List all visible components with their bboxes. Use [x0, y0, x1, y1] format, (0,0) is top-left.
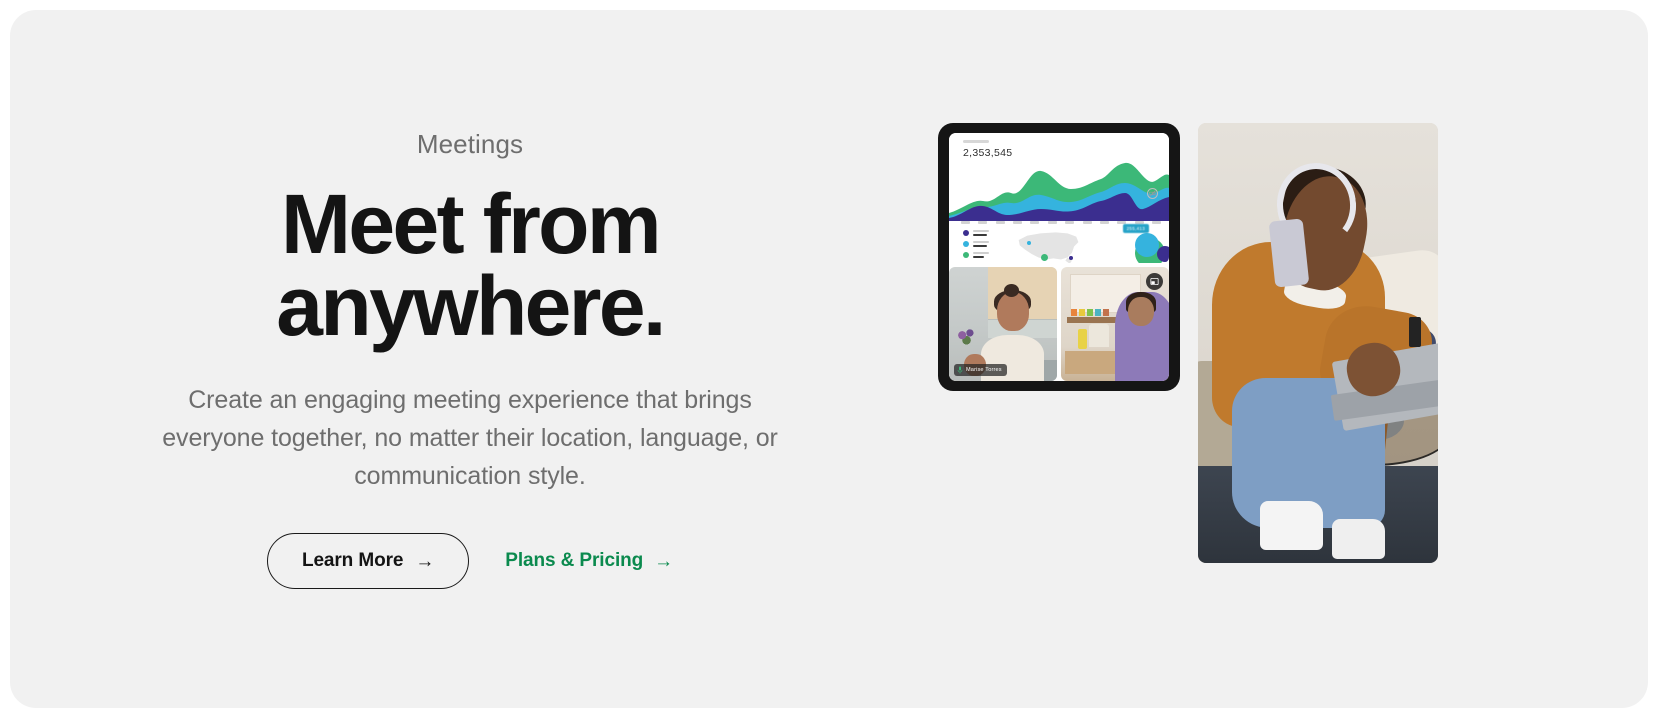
eyebrow-label: Meetings: [417, 129, 523, 159]
hero-card: Meetings Meet from anywhere. Create an e…: [10, 10, 1648, 708]
video-tiles: Marise Torres: [949, 267, 1169, 381]
legend-item: [963, 241, 989, 247]
legend-swatch-chicago: [963, 241, 969, 247]
plans-and-pricing-link[interactable]: Plans & Pricing →: [505, 550, 673, 572]
kpi-caption-placeholder: [963, 140, 989, 143]
photo-watch: [1409, 317, 1421, 348]
camera-off-icon[interactable]: [1147, 188, 1158, 199]
bubble-chicago: [1135, 233, 1159, 257]
kpi-value: 2,353,545: [963, 147, 1012, 159]
video-tile-participant-1[interactable]: Marise Torres: [949, 267, 1057, 381]
learn-more-label: Learn More: [302, 550, 403, 572]
hero-copy-column: Meetings Meet from anywhere. Create an e…: [120, 10, 820, 708]
flower-vase: [955, 326, 979, 349]
plans-and-pricing-label: Plans & Pricing: [505, 550, 643, 572]
video-tile-participant-2[interactable]: [1061, 267, 1169, 381]
participant-hair-bun: [1004, 284, 1019, 297]
chart-legend: [963, 230, 989, 258]
picture-in-picture-icon: [1150, 277, 1159, 286]
area-chart: [949, 159, 1169, 221]
yellow-bottle: [1078, 329, 1087, 350]
picture-in-picture-button[interactable]: [1146, 273, 1163, 290]
photo-sneaker-left: [1260, 501, 1322, 549]
tablet-screen: 2,353,545: [949, 133, 1169, 381]
dashboard-lower-row: 255,413 188,541: [949, 228, 1169, 263]
bubble-chart: 255,413 188,541: [1105, 224, 1169, 263]
lifestyle-photo: BERENICE A.: [1198, 123, 1438, 563]
page-title: Meet from anywhere.: [276, 183, 663, 347]
bubble-tooltip-primary: 255,413: [1123, 224, 1149, 233]
arrow-right-icon: →: [654, 552, 673, 571]
legend-swatch-miami: [963, 252, 969, 258]
map-dot-new-york: [1069, 256, 1073, 260]
legend-item: [963, 230, 989, 236]
cta-row: Learn More → Plans & Pricing →: [267, 533, 673, 589]
hero-description: Create an engaging meeting experience th…: [140, 381, 800, 495]
participant-face: [997, 292, 1029, 331]
participant-name-badge: Marise Torres: [954, 364, 1007, 376]
headline-line-1: Meet from: [281, 177, 659, 271]
legend-text: [973, 230, 989, 236]
microphone-icon: [957, 366, 963, 374]
hero-media-column: 2,353,545: [915, 10, 1535, 708]
sticky-notes: [1071, 309, 1109, 316]
legend-swatch-new-york: [963, 230, 969, 236]
legend-text: [973, 252, 989, 258]
participant-name: Marise Torres: [966, 367, 1002, 373]
legend-item: [963, 252, 989, 258]
tablet-device: 2,353,545: [938, 123, 1180, 391]
legend-text: [973, 241, 989, 247]
arrow-right-icon: →: [415, 552, 434, 571]
table-lamp: [1089, 324, 1108, 347]
participant-face: [1128, 297, 1154, 327]
headline-line-2: anywhere.: [276, 259, 663, 353]
bubble-new-york: [1157, 246, 1169, 262]
map-dot-miami: [1041, 254, 1048, 261]
learn-more-button[interactable]: Learn More →: [267, 533, 469, 589]
photo-sneaker-right: [1332, 519, 1385, 559]
map-dot-chicago: [1027, 241, 1031, 245]
analytics-dashboard: 2,353,545: [949, 133, 1169, 263]
